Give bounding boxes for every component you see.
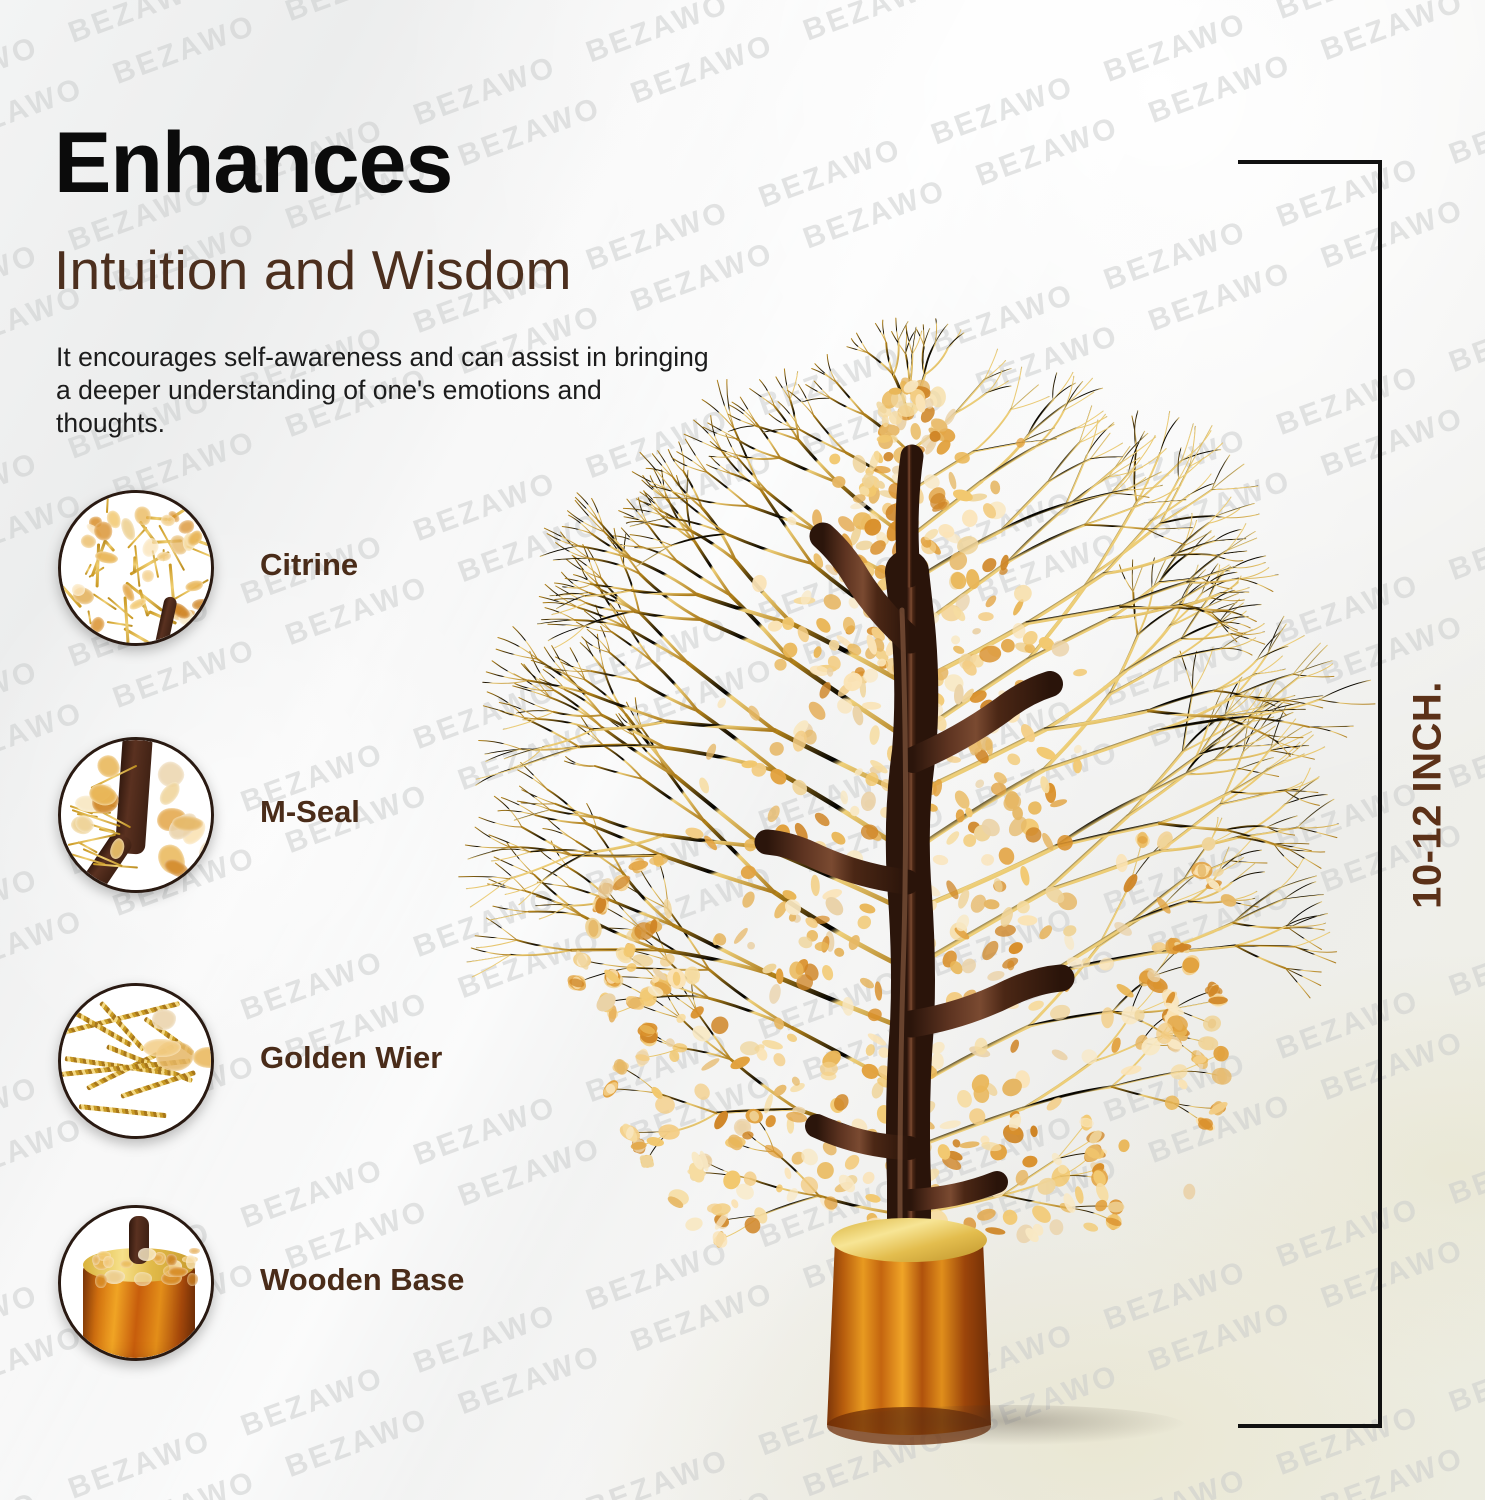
m-seal-trunk-closeup-icon xyxy=(58,737,214,893)
citrine-chip xyxy=(980,853,995,866)
citrine-chip xyxy=(1009,1038,1021,1054)
citrine-chip xyxy=(186,1255,196,1269)
dimension-label: 10-12 INCH. xyxy=(1406,681,1451,909)
citrine-chip xyxy=(952,644,966,655)
citrine-chip xyxy=(1005,751,1022,767)
citrine-chip xyxy=(193,1047,211,1068)
citrine-chip xyxy=(842,997,855,1017)
citrine-chip xyxy=(1219,892,1239,910)
citrine-chip xyxy=(103,1256,114,1267)
citrine-chip xyxy=(184,579,204,593)
citrine-chip xyxy=(1021,1154,1038,1168)
citrine-chip xyxy=(978,612,994,621)
citrine-chip xyxy=(947,471,958,490)
citrine-chip xyxy=(138,1248,156,1261)
citrine-chip xyxy=(1117,1138,1131,1153)
citrine-chip xyxy=(1061,923,1078,938)
citrine-chip xyxy=(966,1105,989,1128)
citrine-chip xyxy=(740,890,757,910)
citrine-chip xyxy=(157,551,172,562)
citrine-chip xyxy=(1050,1047,1069,1062)
citrine-chip xyxy=(1162,1093,1182,1113)
citrine-chip xyxy=(767,740,786,759)
citrine-chip xyxy=(767,983,782,1005)
citrine-chip xyxy=(829,829,848,847)
citrine-chip xyxy=(1183,1183,1196,1199)
wooden-base-closeup-icon xyxy=(58,1205,214,1361)
citrine-chip xyxy=(989,480,1001,495)
citrine-chip xyxy=(985,1226,1006,1236)
citrine-chip xyxy=(771,1051,788,1069)
feature-label-wooden-base: Wooden Base xyxy=(260,1262,464,1298)
citrine-chip xyxy=(950,634,962,646)
citrine-chip xyxy=(187,1273,198,1286)
citrine-chip xyxy=(860,1169,877,1186)
citrine-chip xyxy=(996,845,1016,867)
citrine-chip xyxy=(716,696,728,709)
citrine-chip xyxy=(864,1043,876,1057)
citrine-chip xyxy=(812,645,823,659)
page-description: It encourages self-awareness and can ass… xyxy=(56,341,716,440)
citrine-chip xyxy=(785,1032,798,1044)
citrine-chip xyxy=(1000,1207,1020,1227)
citrine-chip xyxy=(1121,872,1140,895)
citrine-chip xyxy=(882,450,895,463)
citrine-chip xyxy=(1079,1047,1100,1067)
citrine-chip xyxy=(810,874,820,896)
citrine-chip xyxy=(133,505,153,528)
citrine-chip xyxy=(1115,853,1128,872)
wire-twig xyxy=(104,540,115,552)
wire-twig xyxy=(79,493,99,510)
citrine-chip xyxy=(974,778,986,790)
golden-wire-strand xyxy=(79,1104,167,1118)
citrine-chip xyxy=(1168,1062,1189,1082)
citrine-chip xyxy=(813,615,833,635)
feature-m-seal: M-Seal xyxy=(58,737,758,887)
citrine-chip xyxy=(932,854,949,867)
feature-label-m-seal: M-Seal xyxy=(260,794,360,830)
citrine-chip xyxy=(775,1184,783,1193)
product-drop-shadow xyxy=(835,1405,1185,1445)
bracket-bottom-arm xyxy=(1238,1424,1382,1428)
citrine-chip xyxy=(955,1088,974,1110)
citrine-chip xyxy=(951,1138,962,1149)
citrine-chip xyxy=(858,976,875,991)
wire-twig xyxy=(124,597,131,643)
citrine-chip xyxy=(775,968,783,984)
citrine-chip xyxy=(152,1009,176,1030)
citrine-chip xyxy=(1101,1007,1114,1028)
page-title: Enhances xyxy=(54,120,452,206)
citrine-chip xyxy=(864,1193,881,1205)
citrine-chip xyxy=(1210,1066,1233,1087)
feature-citrine: Citrine xyxy=(58,490,758,640)
citrine-chip xyxy=(1030,1125,1039,1137)
citrine-chip xyxy=(952,788,973,811)
citrine-chip xyxy=(95,1274,106,1288)
golden-wire-strand xyxy=(120,1070,196,1098)
citrine-chip xyxy=(783,1167,792,1180)
citrine-chip xyxy=(821,591,844,612)
bracket-top-arm xyxy=(1238,160,1382,164)
wire-twig xyxy=(107,621,133,627)
citrine-chip xyxy=(1082,1221,1099,1233)
citrine-chip xyxy=(1073,668,1088,677)
citrine-chip xyxy=(141,569,155,584)
citrine-chip xyxy=(1012,583,1034,604)
citrine-chip xyxy=(874,981,883,1001)
feature-label-citrine: Citrine xyxy=(260,547,358,583)
citrine-chip xyxy=(646,1136,665,1148)
feature-golden-wier: Golden Wier xyxy=(58,983,758,1133)
citrine-chip xyxy=(858,902,876,915)
citrine-chip xyxy=(1007,940,1025,957)
citrine-chip xyxy=(1018,915,1038,925)
citrine-chip xyxy=(1014,1168,1030,1187)
citrine-chip xyxy=(774,658,787,671)
citrine-chip xyxy=(962,509,978,527)
citrine-chip xyxy=(965,568,981,590)
citrine-chip xyxy=(119,517,137,542)
citrine-chip xyxy=(1019,865,1031,886)
citrine-chip xyxy=(1199,834,1218,853)
citrine-chip xyxy=(1037,923,1055,942)
citrine-chip xyxy=(948,570,969,592)
citrine-chip xyxy=(189,1248,200,1254)
golden-wire-closeup-icon xyxy=(58,983,214,1139)
feature-label-golden-wier: Golden Wier xyxy=(260,1040,442,1076)
feature-wooden-base: Wooden Base xyxy=(58,1205,758,1355)
citrine-chip xyxy=(909,422,921,440)
citrine-chip xyxy=(986,969,1005,982)
citrine-chip xyxy=(1073,1185,1085,1204)
watermark-text: BEZAWO BEZAWO BEZAWO BEZAWO BEZAWO BEZAW… xyxy=(0,0,1485,31)
citrine-chip xyxy=(814,1159,837,1182)
citrine-chip xyxy=(959,956,979,976)
citrine-chip xyxy=(868,725,880,746)
citrine-chip xyxy=(1049,1219,1065,1236)
citrine-chip xyxy=(812,810,831,829)
citrine-chip xyxy=(855,913,874,932)
citrine-chip xyxy=(972,627,982,635)
wire-twig xyxy=(96,544,100,588)
citrine-chip xyxy=(192,598,211,610)
citrine-chip xyxy=(732,926,750,945)
citrine-chip xyxy=(976,1207,998,1223)
golden-wire-strand xyxy=(99,1001,145,1052)
citrine-chip xyxy=(761,1038,784,1051)
citrine-chip xyxy=(979,938,1002,963)
citrine-chip xyxy=(984,594,999,609)
citrine-chip xyxy=(839,790,848,805)
citrine-chip xyxy=(765,804,782,824)
citrine-chip xyxy=(1048,1003,1072,1023)
citrine-chip xyxy=(764,1113,778,1128)
citrine-chip xyxy=(842,1152,862,1173)
citrine-branch-closeup-icon xyxy=(58,490,214,646)
citrine-chip xyxy=(1072,743,1083,754)
citrine-chip xyxy=(834,695,856,717)
citrine-chip xyxy=(160,514,176,527)
page-subtitle: Intuition and Wisdom xyxy=(54,243,572,298)
bracket-vertical xyxy=(1378,160,1382,1428)
infographic-canvas: BEZAWO BEZAWO BEZAWO BEZAWO BEZAWO BEZAW… xyxy=(0,0,1485,1500)
citrine-chip xyxy=(959,1140,980,1149)
citrine-chip xyxy=(827,451,842,466)
citrine-chip xyxy=(820,964,835,982)
citrine-chip xyxy=(1201,1013,1223,1033)
citrine-chip xyxy=(1120,1064,1143,1077)
citrine-chip xyxy=(833,946,846,958)
citrine-chip xyxy=(1176,1078,1189,1092)
citrine-chip xyxy=(746,941,756,951)
citrine-chip xyxy=(939,1119,962,1131)
citrine-chip xyxy=(104,1270,125,1284)
citrine-chip xyxy=(781,616,795,631)
citrine-chip xyxy=(944,829,961,847)
citrine-chip xyxy=(926,398,934,409)
citrine-chip xyxy=(842,616,857,635)
citrine-chip xyxy=(143,1039,180,1057)
citrine-chip xyxy=(805,699,828,723)
citrine-chip xyxy=(1025,799,1044,818)
citrine-chip xyxy=(1073,759,1082,774)
wire-twig xyxy=(133,556,136,572)
citrine-chip xyxy=(88,616,106,636)
